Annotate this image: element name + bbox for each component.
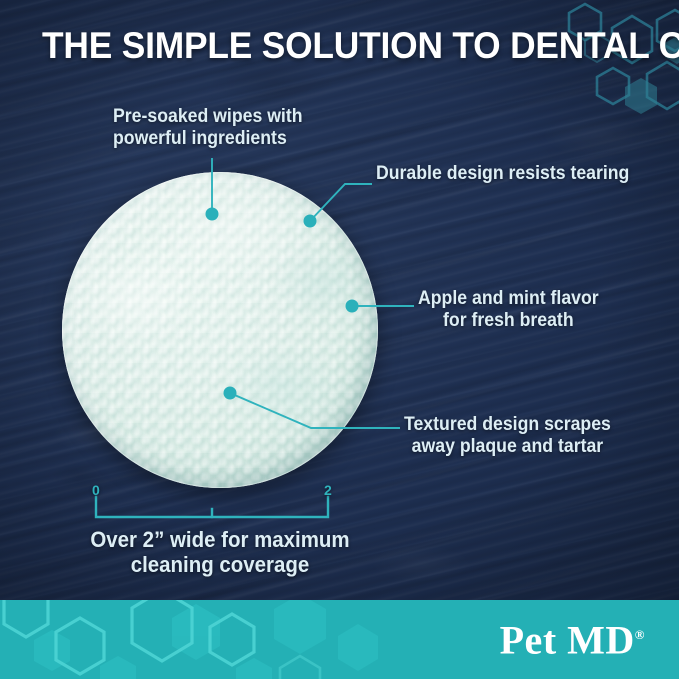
callout-dot-pre-soaked: [206, 208, 219, 221]
callout-label-durable: Durable design resists tearing: [376, 163, 629, 185]
ruler-start-label: 0: [92, 482, 100, 498]
callout-dot-durable: [304, 215, 317, 228]
ruler-caption-line-2: cleaning coverage: [62, 552, 378, 577]
ruler-bracket: [96, 497, 328, 517]
callout-line-2: for fresh breath: [418, 310, 599, 332]
trademark-symbol: ®: [635, 627, 645, 642]
callout-label-flavor: Apple and mint flavor for fresh breath: [418, 288, 599, 332]
callout-label-textured: Textured design scrapes away plaque and …: [404, 414, 611, 458]
leader-line-durable: [310, 184, 372, 221]
ruler-end-label: 2: [324, 482, 332, 498]
infographic-canvas: THE SIMPLE SOLUTION TO DENTAL CARE: [0, 0, 679, 679]
brand-name: Pet MD: [500, 617, 635, 662]
ruler-caption: Over 2” wide for maximum cleaning covera…: [62, 527, 378, 577]
ruler-caption-line-1: Over 2” wide for maximum: [62, 527, 378, 552]
leader-line-textured: [230, 393, 400, 428]
brand-logo: Pet MD®: [500, 616, 645, 663]
callout-line-2: powerful ingredients: [113, 128, 303, 150]
footer-hexagon-pattern-icon: [0, 600, 420, 679]
callout-line-2: away plaque and tartar: [404, 436, 611, 458]
callout-dot-textured: [224, 387, 237, 400]
callout-line-1: Apple and mint flavor: [418, 288, 599, 310]
callout-line-1: Pre-soaked wipes with: [113, 106, 303, 128]
brand-footer: Pet MD®: [0, 600, 679, 679]
callout-line-1: Textured design scrapes: [404, 414, 611, 436]
callout-lines-overlay: [0, 0, 679, 679]
callout-label-pre-soaked: Pre-soaked wipes with powerful ingredien…: [113, 106, 303, 150]
callout-line-1: Durable design resists tearing: [376, 163, 629, 185]
callout-dot-flavor: [346, 300, 359, 313]
